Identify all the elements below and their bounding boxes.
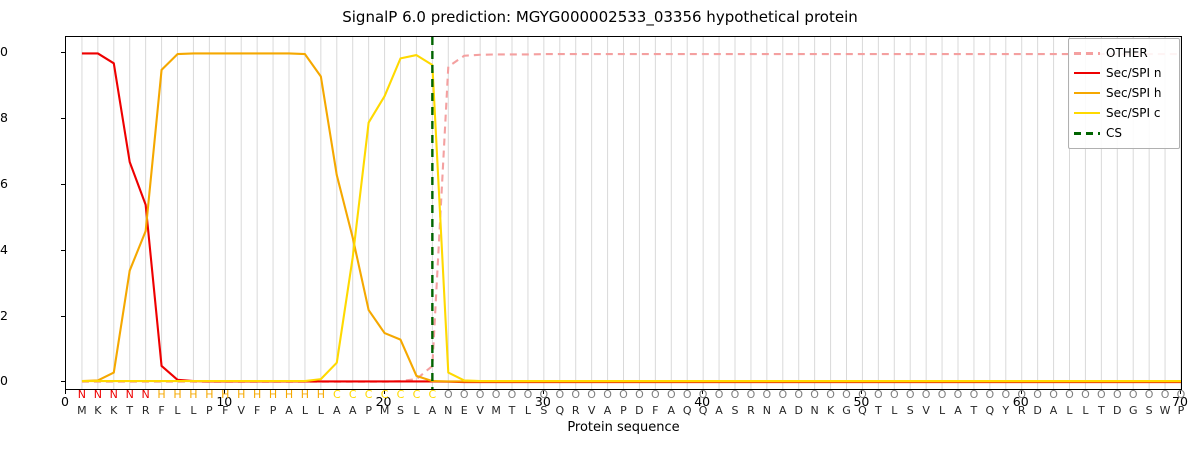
series-sec-spi-n (82, 53, 1181, 382)
y-tick-label: 0.0 (0, 375, 8, 387)
legend-item-sec-spi-h[interactable]: Sec/SPI h (1074, 83, 1174, 103)
plot-canvas (66, 37, 1181, 389)
legend-label-cs: CS (1106, 126, 1122, 140)
y-tick-label: 0.2 (0, 310, 8, 322)
legend-label-sec-spi-h: Sec/SPI h (1106, 86, 1161, 100)
y-tick-label: 0.4 (0, 244, 8, 256)
series-sec-spi-c (82, 55, 1181, 381)
x-axis-label: Protein sequence (65, 420, 1182, 435)
y-tick-label: 0.8 (0, 112, 8, 124)
series-sec-spi-h (82, 53, 1181, 381)
legend-label-sec-spi-c: Sec/SPI c (1106, 106, 1160, 120)
legend-swatch-other-icon (1074, 47, 1100, 59)
series-other (82, 54, 1181, 382)
legend-label-sec-spi-n: Sec/SPI n (1106, 66, 1161, 80)
region-label: O (1170, 388, 1192, 402)
chart-legend[interactable]: OTHER Sec/SPI n Sec/SPI h Sec/SPI c CS (1068, 38, 1180, 149)
legend-item-sec-spi-n[interactable]: Sec/SPI n (1074, 63, 1174, 83)
legend-swatch-sec-spi-c-icon (1074, 107, 1100, 119)
legend-label-other: OTHER (1106, 46, 1148, 60)
y-tick-label: 1.0 (0, 46, 8, 58)
legend-swatch-sec-spi-h-icon (1074, 87, 1100, 99)
legend-item-cs[interactable]: CS (1074, 123, 1174, 143)
legend-swatch-sec-spi-n-icon (1074, 67, 1100, 79)
plot-area: NNNNNHHHHHHHHHHHCCCCCCCOOOOOOOOOOOOOOOOO… (65, 36, 1182, 390)
signalp-prediction-figure: SignalP 6.0 prediction: MGYG000002533_03… (0, 0, 1200, 450)
legend-swatch-cs-icon (1074, 127, 1100, 139)
amino-acid-label: P (1170, 404, 1192, 418)
legend-item-sec-spi-c[interactable]: Sec/SPI c (1074, 103, 1174, 123)
legend-item-other[interactable]: OTHER (1074, 43, 1174, 63)
region-label-row: NNNNNHHHHHHHHHHHCCCCCCCOOOOOOOOOOOOOOOOO… (66, 388, 1183, 402)
page-title: SignalP 6.0 prediction: MGYG000002533_03… (0, 8, 1200, 26)
y-tick-label: 0.6 (0, 178, 8, 190)
amino-acid-row: MKKTRFLLPFVFPALLAAPMSLANEVMTLSQRVAPDFAQQ… (66, 404, 1183, 418)
